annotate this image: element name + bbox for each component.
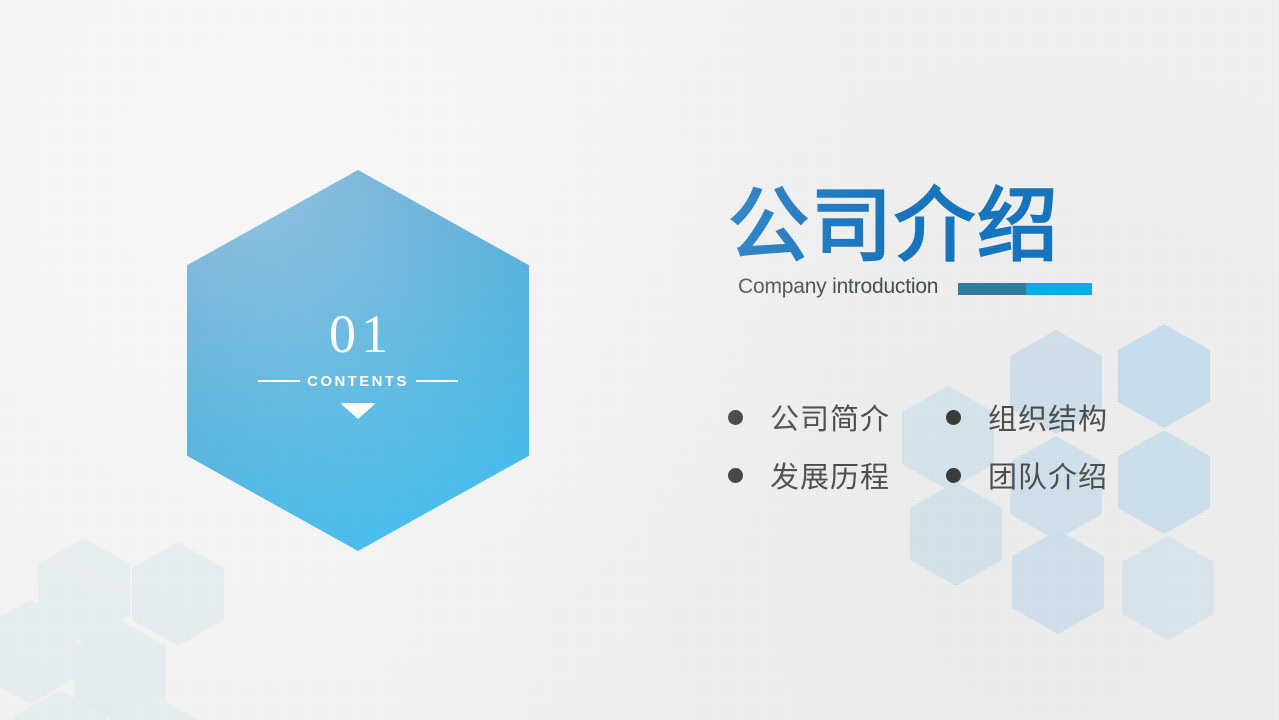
rule-right <box>416 380 458 382</box>
list-item[interactable]: 团队介绍 <box>946 446 1164 504</box>
contents-label-row: CONTENTS <box>258 373 458 390</box>
bullet-dot-icon <box>728 468 743 483</box>
subtitle-row: Company introduction <box>738 275 1248 299</box>
list-item-label: 发展历程 <box>770 454 890 496</box>
heading-block: 公司介绍 Company introduction <box>728 186 1248 299</box>
accent-bar <box>958 283 1092 295</box>
list-item-label: 公司简介 <box>770 396 890 438</box>
rule-left <box>258 380 300 382</box>
bullet-dot-icon <box>728 410 743 425</box>
bullet-dot-icon <box>946 410 961 425</box>
list-item[interactable]: 公司简介 <box>728 388 946 446</box>
section-marker: 01 CONTENTS <box>187 170 529 551</box>
bullet-dot-icon <box>946 468 961 483</box>
page-subtitle: Company introduction <box>738 275 938 299</box>
page-title: 公司介绍 <box>728 186 1248 269</box>
list-item[interactable]: 组织结构 <box>946 388 1164 446</box>
accent-bar-segment-left <box>958 283 1026 295</box>
section-number: 01 <box>329 307 393 361</box>
list-item-label: 组织结构 <box>988 396 1108 438</box>
agenda-list: 公司简介 组织结构 发展历程 团队介绍 <box>728 388 1168 504</box>
decorative-hexagon-right-6 <box>1012 530 1104 634</box>
decorative-hexagon-left-1 <box>132 542 224 646</box>
accent-bar-segment-right <box>1026 283 1092 295</box>
contents-label: CONTENTS <box>307 373 409 390</box>
triangle-down-icon <box>340 403 376 419</box>
slide-canvas: 01 CONTENTS 公司介绍 Company introduction 公司… <box>0 0 1279 720</box>
list-item-label: 团队介绍 <box>988 454 1108 496</box>
list-item[interactable]: 发展历程 <box>728 446 946 504</box>
decorative-hexagon-right-7 <box>1122 536 1214 640</box>
